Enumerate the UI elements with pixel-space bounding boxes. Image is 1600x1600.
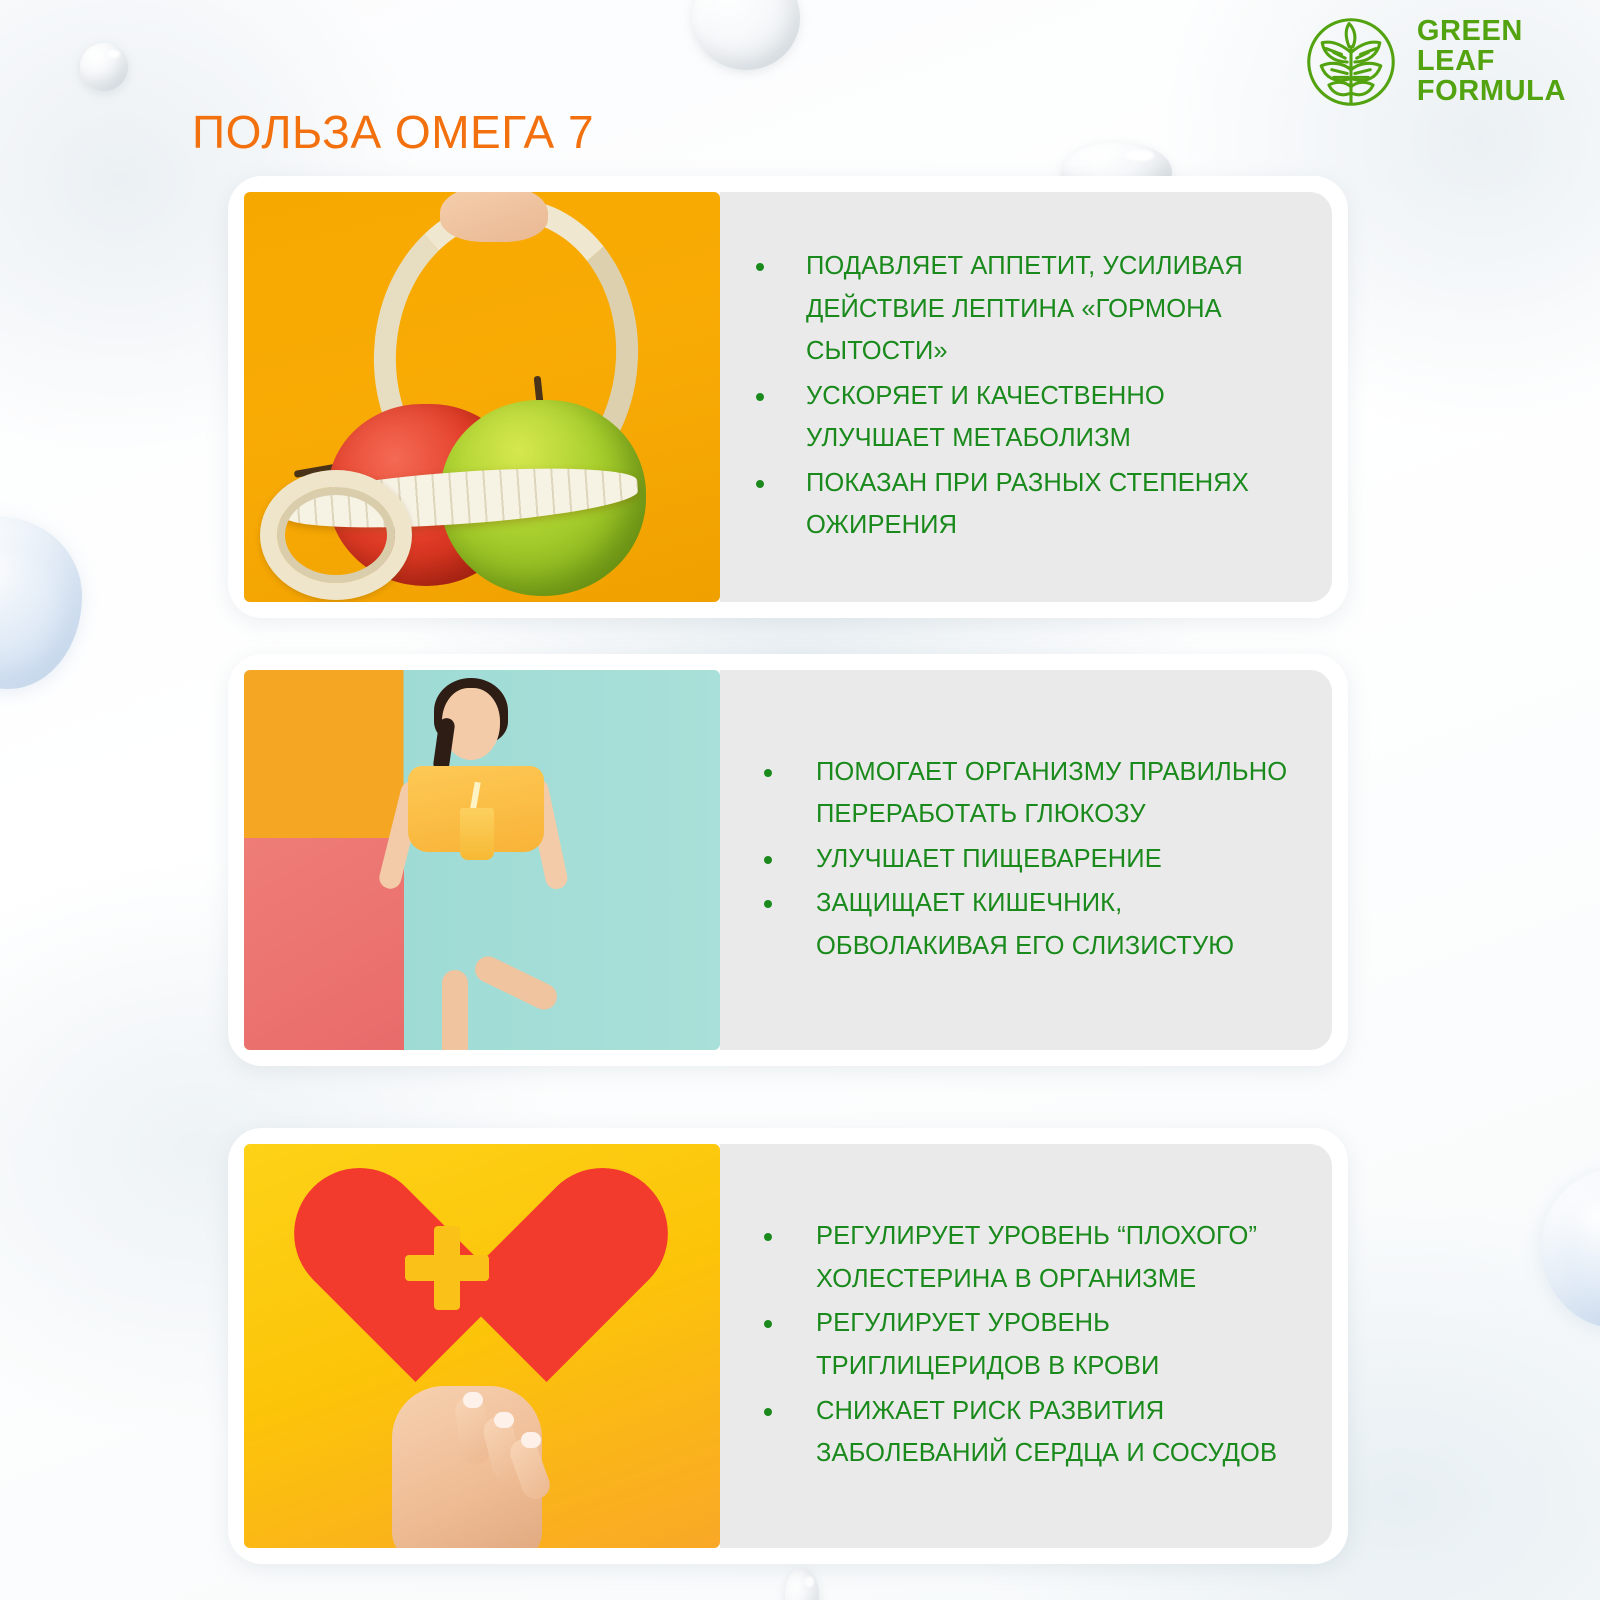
benefit-list-weight: ПОДАВЛЯЕТ АППЕТИТ, УСИЛИВАЯ ДЕЙСТВИЕ ЛЕП…: [738, 245, 1290, 549]
list-item: ПОДАВЛЯЕТ АППЕТИТ, УСИЛИВАЯ ДЕЙСТВИЕ ЛЕП…: [738, 245, 1290, 373]
fingernail-shape: [521, 1432, 541, 1448]
list-item: РЕГУЛИРУЕТ УРОВЕНЬ “ПЛОХОГО” ХОЛЕСТЕРИНА…: [738, 1215, 1290, 1300]
list-item: СНИЖАЕТ РИСК РАЗВИТИЯ ЗАБОЛЕВАНИЙ СЕРДЦА…: [738, 1390, 1290, 1475]
infographic-page: ПОЛЬЗА ОМЕГА 7: [0, 0, 1600, 1600]
page-title: ПОЛЬЗА ОМЕГА 7: [192, 105, 594, 159]
green-leaf-circle-icon: [1303, 14, 1399, 110]
hand-pinch-shape: [440, 192, 548, 242]
benefit-card-weight-body: ПОДАВЛЯЕТ АППЕТИТ, УСИЛИВАЯ ДЕЙСТВИЕ ЛЕП…: [720, 192, 1332, 602]
water-droplet-top-left-icon: [80, 43, 128, 91]
blue-gel-droplet-right-icon: [1541, 1168, 1600, 1328]
fingernail-shape: [494, 1412, 514, 1428]
benefit-card-heart: РЕГУЛИРУЕТ УРОВЕНЬ “ПЛОХОГО” ХОЛЕСТЕРИНА…: [228, 1128, 1348, 1564]
medical-cross-icon-bar: [405, 1255, 489, 1281]
list-item: УЛУЧШАЕТ ПИЩЕВАРЕНИЕ: [738, 838, 1290, 881]
apples-measuring-tape-photo: [244, 192, 720, 602]
brand-wordmark: GREEN LEAF FORMULA: [1417, 17, 1566, 107]
measuring-tape-coil-shape: [260, 470, 412, 600]
fingernail-shape: [463, 1392, 483, 1408]
list-item: ПОМОГАЕТ ОРГАНИЗМУ ПРАВИЛЬНО ПЕРЕРАБОТАТ…: [738, 751, 1290, 836]
hand-holding-red-heart-photo: [244, 1144, 720, 1548]
brand-line-2: LEAF: [1417, 47, 1566, 77]
woman-leg-straight-shape: [442, 970, 468, 1050]
benefit-card-digestion-body: ПОМОГАЕТ ОРГАНИЗМУ ПРАВИЛЬНО ПЕРЕРАБОТАТ…: [720, 670, 1332, 1050]
smoothie-cup-shape: [460, 808, 494, 860]
benefit-card-heart-body: РЕГУЛИРУЕТ УРОВЕНЬ “ПЛОХОГО” ХОЛЕСТЕРИНА…: [720, 1144, 1332, 1548]
benefit-card-weight: ПОДАВЛЯЕТ АППЕТИТ, УСИЛИВАЯ ДЕЙСТВИЕ ЛЕП…: [228, 176, 1348, 618]
benefit-list-heart: РЕГУЛИРУЕТ УРОВЕНЬ “ПЛОХОГО” ХОЛЕСТЕРИНА…: [738, 1215, 1290, 1476]
red-heart-shape: [350, 1172, 612, 1404]
benefit-card-digestion: ПОМОГАЕТ ОРГАНИЗМУ ПРАВИЛЬНО ПЕРЕРАБОТАТ…: [228, 654, 1348, 1066]
brand-logo: GREEN LEAF FORMULA: [1303, 14, 1566, 110]
list-item: ПОКАЗАН ПРИ РАЗНЫХ СТЕПЕНЯХ ОЖИРЕНИЯ: [738, 462, 1290, 547]
benefit-list-digestion: ПОМОГАЕТ ОРГАНИЗМУ ПРАВИЛЬНО ПЕРЕРАБОТАТ…: [738, 751, 1290, 970]
list-item: УСКОРЯЕТ И КАЧЕСТВЕННО УЛУЧШАЕТ МЕТАБОЛИ…: [738, 375, 1290, 460]
blue-gel-droplet-left-icon: [0, 517, 82, 689]
list-item: РЕГУЛИРУЕТ УРОВЕНЬ ТРИГЛИЦЕРИДОВ В КРОВИ: [738, 1302, 1290, 1387]
list-item: ЗАЩИЩАЕТ КИШЕЧНИК, ОБВОЛАКИВАЯ ЕГО СЛИЗИ…: [738, 882, 1290, 967]
brand-line-1: GREEN: [1417, 17, 1566, 47]
brand-line-3: FORMULA: [1417, 77, 1566, 107]
woman-yellow-dress-drink-photo: [244, 670, 720, 1050]
water-droplet-bottom-center-icon: [785, 1568, 819, 1600]
water-bubble-top-center-icon: [692, 0, 800, 70]
